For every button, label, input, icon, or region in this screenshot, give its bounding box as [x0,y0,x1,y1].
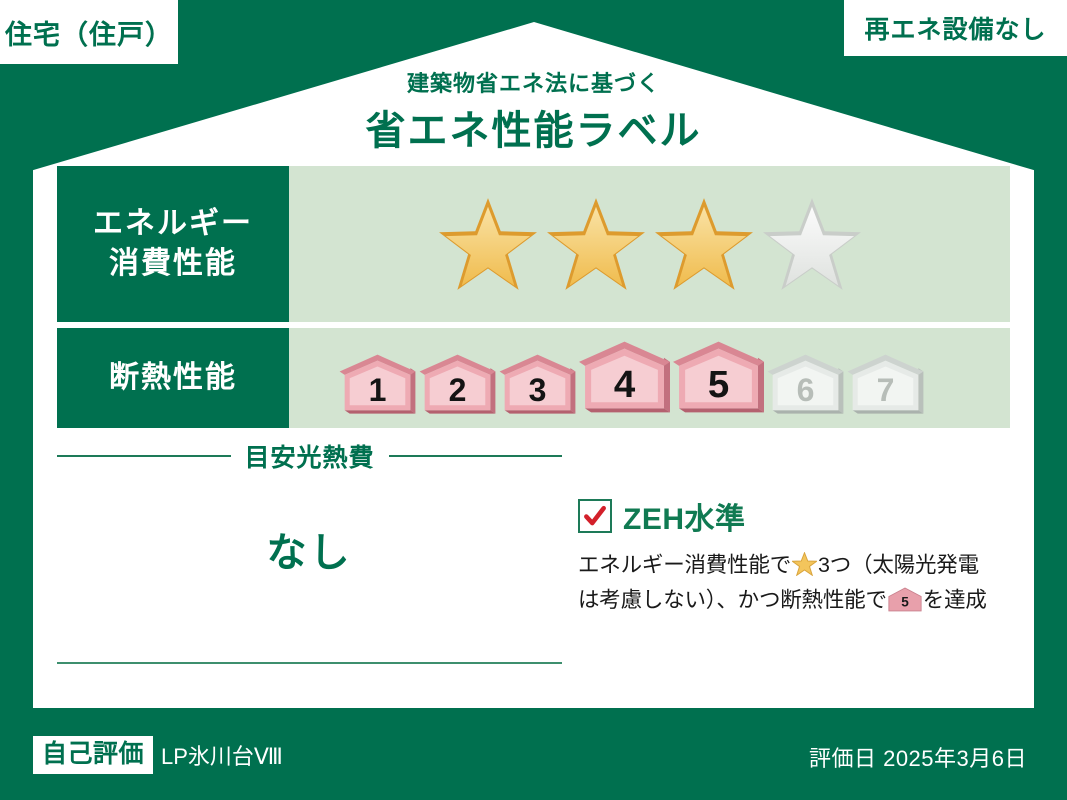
zeh-desc-star-count: 3つ（太陽光発電 [818,553,979,577]
insulation-grade-inactive: 6 [767,353,844,417]
house-grade-icon: 5 [888,587,922,612]
label-title: 省エネ性能ラベル [0,98,1067,156]
zeh-standard-description: エネルギー消費性能で3つ（太陽光発電は考慮しない）、かつ断熱性能で5を達成 [578,548,1018,618]
footer-left-group: 自己評価 LP氷川台Ⅷ [33,736,283,774]
evaluation-date: 評価日 2025年3月6日 [809,741,1027,773]
insulation-grade-active: 4 [579,339,670,417]
utility-cost-bottom-divider [57,662,562,664]
star-icon-filled [544,194,648,294]
utility-cost-title: 目安光熱費 [245,438,375,474]
zeh-desc-part1: エネルギー消費性能で [578,553,791,577]
insulation-grade-active: 3 [499,353,576,417]
divider-left [57,455,231,457]
insulation-grade-active: 2 [419,353,496,417]
star-icon-filled [436,194,540,294]
badge-building-type-label: 住宅（住戸） [5,13,173,52]
insulation-grade-inactive: 7 [847,353,924,417]
insulation-grade-active: 1 [339,353,416,417]
energy-performance-rating [289,166,1010,322]
insulation-grade-label: 5 [708,363,729,406]
insulation-grade-label: 4 [614,363,636,406]
insulation-grade-active: 5 [673,339,764,417]
insulation-performance-row: 断熱性能 1234567 [57,328,1010,428]
insulation-grade-label: 6 [797,372,815,408]
divider-right [389,455,563,457]
star-icon-empty [760,194,864,294]
svg-text:5: 5 [901,595,909,610]
label-subtitle: 建築物省エネ法に基づく [0,66,1067,98]
insulation-performance-heading: 断熱性能 [57,328,289,428]
utility-cost-header: 目安光熱費 [57,438,562,474]
badge-renewable-energy-label: 再エネ設備なし [864,10,1046,46]
badge-renewable-energy: 再エネ設備なし [844,0,1067,56]
zeh-standard-block: ZEH水準 エネルギー消費性能で3つ（太陽光発電は考慮しない）、かつ断熱性能で5… [578,494,1018,618]
energy-performance-label: 住宅（住戸） 再エネ設備なし 建築物省エネ法に基づく 省エネ性能ラベル エネルギ… [0,0,1067,800]
zeh-checkbox[interactable] [578,499,612,533]
zeh-desc-part2: は考慮しない）、かつ断熱性能で [578,588,887,612]
insulation-performance-heading-label: 断熱性能 [109,358,237,399]
insulation-grade-label: 2 [449,372,467,408]
energy-performance-row: エネルギー 消費性能 [57,166,1010,322]
insulation-performance-rating: 1234567 [289,328,1010,428]
insulation-grade-label: 1 [369,372,387,408]
insulation-grade-label: 3 [529,372,547,408]
self-evaluation-badge: 自己評価 [33,736,153,774]
insulation-grade-scale: 1234567 [339,339,924,417]
energy-performance-heading: エネルギー 消費性能 [57,166,289,322]
building-name: LP氷川台Ⅷ [161,739,283,771]
star-icon-filled [652,194,756,294]
badge-building-type: 住宅（住戸） [0,0,178,64]
energy-performance-heading-line2: 消費性能 [109,244,237,285]
check-icon [582,503,608,529]
utility-cost-value: なし [57,520,562,578]
zeh-standard-title: ZEH水準 [623,494,746,538]
zeh-standard-header: ZEH水準 [578,494,1018,538]
label-footer: 自己評価 LP氷川台Ⅷ 評価日 2025年3月6日 [0,708,1067,800]
insulation-grade-label: 7 [877,372,895,408]
star-icon [792,552,817,576]
zeh-desc-part3: を達成 [923,588,987,612]
star-rating [436,194,864,294]
energy-performance-heading-line1: エネルギー [93,204,253,245]
